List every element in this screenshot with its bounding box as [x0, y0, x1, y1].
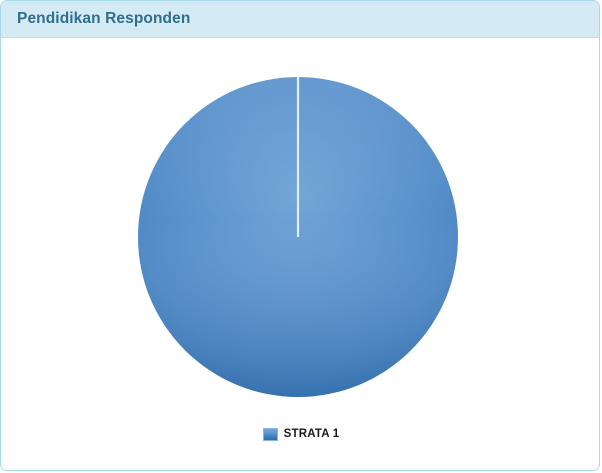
chart-body: STRATA 1: [1, 39, 600, 471]
page-title: Pendidikan Responden: [17, 1, 190, 37]
card-header: Pendidikan Responden: [1, 1, 600, 38]
chart-legend: STRATA 1: [1, 422, 600, 446]
color-swatch-icon: [263, 428, 278, 441]
legend-item-label: STRATA 1: [284, 428, 340, 440]
pie-chart-svg: [1, 39, 600, 471]
legend-item-strata-1[interactable]: STRATA 1: [263, 428, 340, 441]
pie-chart: [1, 39, 600, 471]
chart-card: Pendidikan Responden: [0, 0, 600, 471]
